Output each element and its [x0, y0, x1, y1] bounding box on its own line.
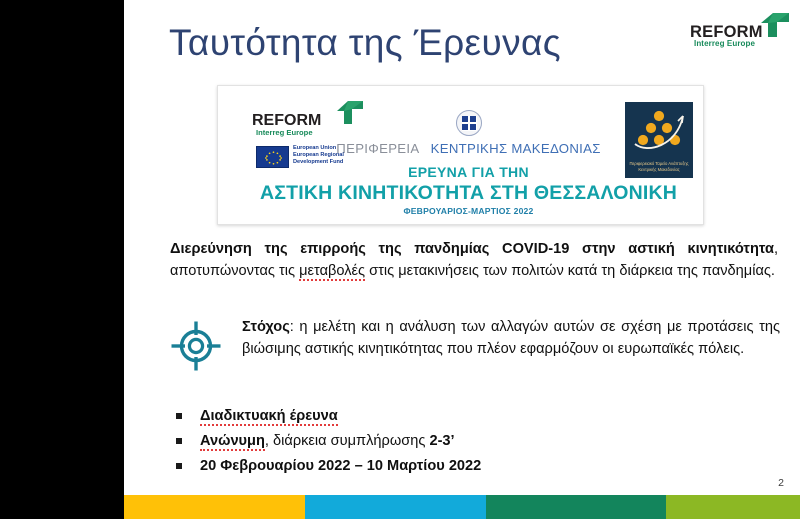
goal-text: Στόχος: η μελέτη και η ανάλυση των αλλαγ…: [242, 316, 780, 360]
page-title: Ταυτότητα της Έρευνας: [169, 22, 561, 64]
target-icon: [170, 320, 222, 372]
bullet-marker-icon: [176, 438, 182, 444]
reform-arrow-icon: [760, 12, 790, 38]
list-item-bold-tail: 20 Φεβρουαρίου 2022 – 10 Μαρτίου 2022: [200, 458, 481, 474]
goal-label: Στόχος: [242, 319, 290, 335]
hellenic-republic-seal-icon: [456, 110, 482, 136]
bullet-marker-icon: [176, 463, 182, 469]
slide-canvas: Ταυτότητα της Έρευνας REFORM Interreg Eu…: [124, 0, 800, 519]
list-item: Ανώνυμη, διάρκεια συμπλήρωσης 2-3’: [172, 429, 732, 454]
list-item-bold-tail: 2-3’: [429, 433, 454, 449]
banner-region-prefix: ΠΕΡΙΦΕΡΕΙΑ: [336, 141, 418, 156]
footer-color-bar: [124, 495, 800, 519]
regional-fund-caption: Περιφερειακό Ταμείο Ανάπτυξης Κεντρικής …: [628, 161, 690, 172]
regional-fund-logo: Περιφερειακό Ταμείο Ανάπτυξης Κεντρικής …: [625, 102, 693, 178]
survey-banner-image: REFORM Interreg Europe: [217, 85, 704, 225]
intro-paragraph-rest-b: στις μετακινήσεις των πολιτών κατά τη δι…: [365, 263, 775, 279]
list-item: 20 Φεβρουαρίου 2022 – 10 Μαρτίου 2022: [172, 454, 732, 479]
banner-region-name: ΚΕΝΤΡΙΚΗΣ ΜΑΚΕΔΟΝΙΑΣ: [431, 141, 601, 156]
list-item-bold: Διαδικτυακή έρευνα: [200, 408, 338, 426]
reform-tagline: Interreg Europe: [694, 39, 755, 48]
banner-reform-logo: REFORM Interreg Europe: [250, 100, 368, 144]
regional-fund-caption-line-1: Περιφερειακό Ταμείο Ανάπτυξης: [628, 161, 690, 166]
list-item: Διαδικτυακή έρευνα: [172, 404, 732, 429]
intro-paragraph: Διερεύνηση της επιρροής της πανδημίας CO…: [170, 238, 778, 282]
intro-paragraph-misspelled-word: μεταβολές: [299, 263, 365, 281]
reform-logo: REFORM Interreg Europe: [688, 10, 792, 50]
segment-light-green: [666, 495, 800, 519]
page-number: 2: [778, 477, 784, 489]
regional-fund-caption-line-2: Κεντρικής Μακεδονίας: [628, 167, 690, 172]
bullet-marker-icon: [176, 413, 182, 419]
list-item-regular: , διάρκεια συμπλήρωσης: [265, 433, 430, 449]
list-item-bold: Ανώνυμη: [200, 433, 265, 451]
goal-description: : η μελέτη και η ανάλυση των αλλαγών αυτ…: [242, 319, 780, 357]
survey-facts-list: Διαδικτυακή έρευνα Ανώνυμη, διάρκεια συμ…: [172, 404, 732, 479]
regional-fund-dots-icon: [625, 102, 693, 160]
slide-root: Ταυτότητα της Έρευνας REFORM Interreg Eu…: [0, 0, 800, 519]
banner-survey-dates: ΦΕΒΡΟΥΑΡΙΟΣ-ΜΑΡΤΙΟΣ 2022: [218, 206, 704, 216]
segment-cyan: [305, 495, 486, 519]
intro-paragraph-bold: Διερεύνηση της επιρροής της πανδημίας CO…: [170, 241, 774, 257]
segment-dark-green: [486, 495, 667, 519]
segment-yellow: [124, 495, 305, 519]
banner-survey-title: ΑΣΤΙΚΗ ΚΙΝΗΤΙΚΟΤΗΤΑ ΣΤΗ ΘΕΣΣΑΛΟΝΙΚΗ: [218, 182, 704, 205]
banner-reform-tagline: Interreg Europe: [256, 128, 313, 137]
banner-reform-arrow-icon: [336, 100, 364, 125]
